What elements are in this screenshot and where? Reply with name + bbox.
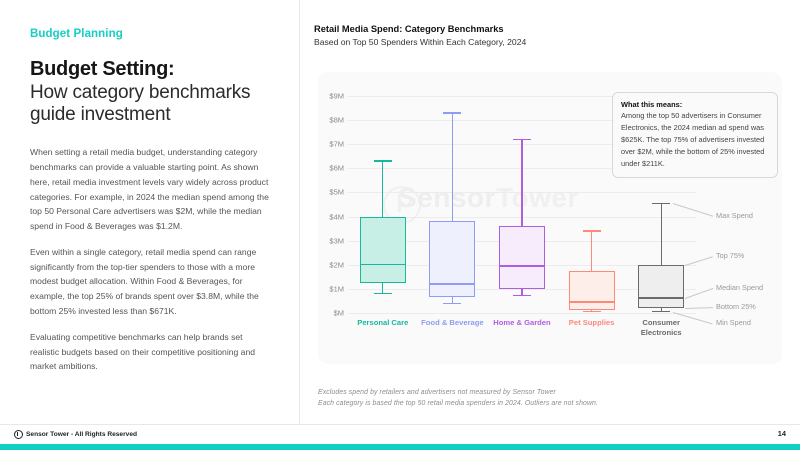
y-axis-tick-label: $7M — [304, 140, 344, 149]
callout-title: What this means: — [621, 100, 769, 109]
whisker-cap — [652, 203, 670, 205]
annotation-label-min-spend: Min Spend — [716, 318, 751, 327]
body-paragraph-2: Even within a single category, retail me… — [30, 245, 269, 319]
accent-bar — [0, 444, 800, 450]
whisker-line — [661, 203, 662, 264]
slide-footer: Sensor Tower - All Rights Reserved 14 — [0, 424, 800, 445]
y-axis-tick-label: $1M — [304, 284, 344, 293]
annotation-label-top-75-: Top 75% — [716, 251, 744, 260]
whisker-cap — [652, 311, 670, 313]
x-axis-category-label: Pet Supplies — [557, 318, 627, 328]
median-line — [638, 297, 684, 298]
box-iqr — [638, 265, 684, 308]
y-axis-tick-label: $M — [304, 309, 344, 318]
callout-box: What this means: Among the top 50 advert… — [612, 92, 778, 178]
x-axis-category-label: Home & Garden — [487, 318, 557, 328]
sensor-tower-logo-icon — [14, 430, 23, 439]
footnote-1: Excludes spend by retailers and advertis… — [318, 389, 556, 396]
chart-subtitle: Based on Top 50 Spenders Within Each Cat… — [314, 37, 788, 47]
annotation-label-max-spend: Max Spend — [716, 211, 753, 220]
y-axis-tick-label: $6M — [304, 164, 344, 173]
page-title-main: Budget Setting: — [30, 58, 269, 82]
callout-body: Among the top 50 advertisers in Consumer… — [621, 110, 769, 170]
page-number: 14 — [778, 429, 786, 438]
body-paragraph-1: When setting a retail media budget, unde… — [30, 145, 269, 234]
page-title-sub: How category benchmarks guide investment — [30, 82, 269, 128]
y-axis-tick-label: $4M — [304, 212, 344, 221]
footer-copyright: Sensor Tower - All Rights Reserved — [14, 430, 137, 439]
x-axis-category-label: Consumer Electronics — [626, 318, 696, 339]
y-axis-tick-label: $9M — [304, 92, 344, 101]
footnote-2: Each category is based the top 50 retail… — [318, 400, 598, 407]
eyebrow-label: Budget Planning — [30, 28, 269, 40]
chart-title: Retail Media Spend: Category Benchmarks — [314, 24, 788, 34]
gridline — [348, 313, 696, 314]
x-axis-category-label: Food & Beverage — [418, 318, 488, 328]
y-axis-tick-label: $2M — [304, 260, 344, 269]
footer-copyright-text: Sensor Tower - All Rights Reserved — [26, 431, 137, 438]
annotation-label-median-spend: Median Spend — [716, 283, 763, 292]
slide-text-panel: Budget Planning Budget Setting: How cate… — [0, 0, 300, 424]
page-title: Budget Setting: How category benchmarks … — [30, 58, 269, 127]
y-axis-tick-label: $8M — [304, 116, 344, 125]
y-axis-tick-label: $5M — [304, 188, 344, 197]
annotation-label-bottom-25-: Bottom 25% — [716, 302, 756, 311]
y-axis-tick-label: $3M — [304, 236, 344, 245]
body-paragraph-3: Evaluating competitive benchmarks can he… — [30, 330, 269, 374]
x-axis-category-label: Personal Care — [348, 318, 418, 328]
